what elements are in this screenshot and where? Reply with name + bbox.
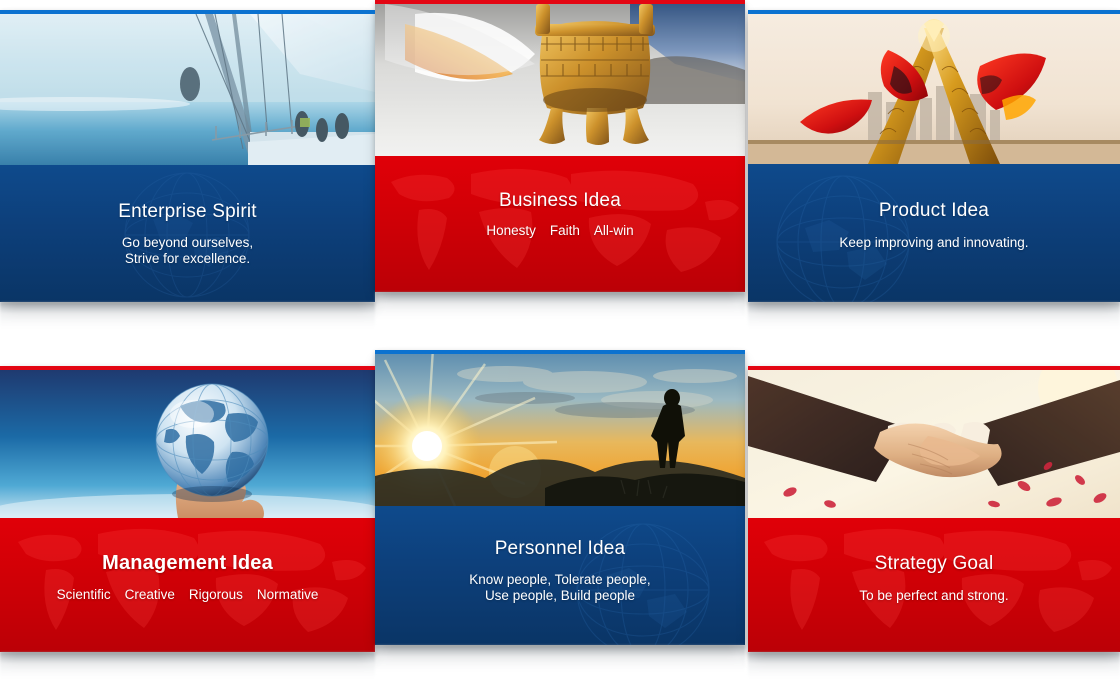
card-subtitle: To be perfect and strong. [748,588,1120,604]
card-reflection [748,652,1120,678]
card-subtitle: Go beyond ourselves, Strive for excellen… [0,235,375,267]
card-reflection [0,652,375,678]
golden-arch-red-ribbon-city-photo [748,14,1120,164]
card-personnel-idea[interactable]: Personnel Idea Know people, Tolerate peo… [375,350,745,645]
caption-product-idea: Product Idea Keep improving and innovati… [748,164,1120,302]
culture-card-grid: Enterprise Spirit Go beyond ourselves, S… [0,0,1120,680]
card-enterprise-spirit[interactable]: Enterprise Spirit Go beyond ourselves, S… [0,10,375,302]
card-management-idea[interactable]: Management Idea ScientificCreativeRigoro… [0,366,375,652]
card-keyword: Honesty [486,223,536,239]
caption-management-idea: Management Idea ScientificCreativeRigoro… [0,518,375,652]
card-reflection [0,302,375,328]
accent-bar-red [748,366,1120,370]
sunrise-person-silhouette-photo [375,354,745,506]
card-strategy-goal[interactable]: Strategy Goal To be perfect and strong. [748,366,1120,652]
card-keyword: Creative [125,587,175,603]
card-reflection [375,645,745,671]
card-title: Product Idea [748,200,1120,222]
card-title: Management Idea [0,552,375,575]
card-subtitle: Keep improving and innovating. [748,235,1120,251]
accent-bar-blue [375,350,745,354]
card-product-idea[interactable]: Product Idea Keep improving and innovati… [748,10,1120,302]
card-keywords: ScientificCreativeRigorousNormative [57,586,319,604]
sailboat-ocean-photo [0,14,375,165]
business-handshake-photo [748,370,1120,518]
card-title: Business Idea [375,190,745,212]
card-title: Strategy Goal [748,553,1120,575]
accent-bar-blue [748,10,1120,14]
card-business-idea[interactable]: Business Idea HonestyFaithAll-win [375,0,745,292]
card-keyword: Scientific [57,587,111,603]
card-title: Personnel Idea [375,538,745,560]
card-subtitle: Know people, Tolerate people, Use people… [375,572,745,604]
accent-bar-red [375,0,745,4]
card-keyword: Normative [257,587,319,603]
card-title: Enterprise Spirit [0,201,375,223]
caption-enterprise-spirit: Enterprise Spirit Go beyond ourselves, S… [0,165,375,302]
accent-bar-red [0,366,375,370]
accent-bar-blue [0,10,375,14]
card-keyword: Rigorous [189,587,243,603]
golden-ding-cauldron-photo [375,4,745,156]
caption-strategy-goal: Strategy Goal To be perfect and strong. [748,518,1120,652]
card-reflection [375,292,745,318]
card-keyword: All-win [594,223,634,239]
caption-personnel-idea: Personnel Idea Know people, Tolerate peo… [375,506,745,645]
caption-business-idea: Business Idea HonestyFaithAll-win [375,156,745,292]
hand-holding-globe-photo [0,370,375,518]
card-reflection [748,302,1120,328]
card-keyword: Faith [550,223,580,239]
card-keywords: HonestyFaithAll-win [486,222,633,240]
